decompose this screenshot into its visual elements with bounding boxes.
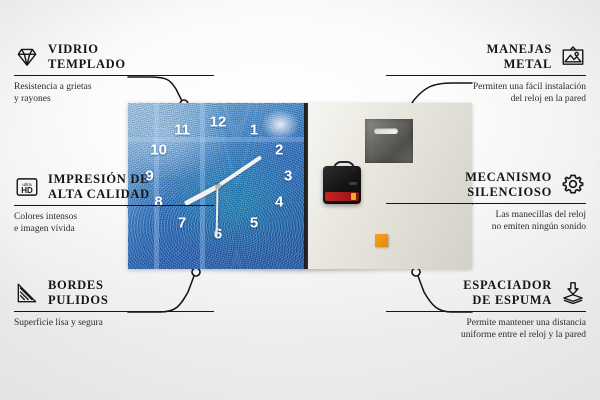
feature-mecanismo-silencioso: MECANISMO SILENCIOSO Las manecillas del … [386,170,586,234]
feature-title: VIDRIO TEMPLADO [48,42,126,72]
mechanism-loop [333,161,355,172]
feature-header: MANEJAS METAL [386,42,586,72]
feature-espaciador-espuma: ESPACIADOR DE ESPUMA Permite mantener un… [386,278,586,342]
feature-sub-line1: Colores intensos [14,211,214,223]
feature-title-line2: METAL [487,57,552,72]
feature-sub-line1: Superficie lisa y segura [14,317,214,329]
feature-divider [386,311,586,313]
feature-sub-line1: Resistencia a grietas [14,81,214,93]
feature-title-line2: ALTA CALIDAD [48,187,150,202]
feature-title: BORDES PULIDOS [48,278,108,308]
clock-numeral-5: 5 [250,216,258,231]
clock-numeral-3: 3 [284,169,292,184]
clock-numeral-2: 2 [275,143,283,158]
clock-numeral-4: 4 [275,195,283,210]
feature-title-line2: TEMPLADO [48,57,126,72]
quartz-mechanism [323,166,361,204]
feature-sub-line2: y rayones [14,93,214,105]
feature-title: IMPRESIÓN DE ALTA CALIDAD [48,172,150,202]
battery-terminal [351,193,356,200]
hanger-slot [374,128,398,134]
feature-impresion-alta-calidad: ultra HD IMPRESIÓN DE ALTA CALIDAD Color… [14,172,214,236]
feature-header: VIDRIO TEMPLADO [14,42,214,72]
metal-hanger-plate [365,119,413,163]
feature-title-line1: BORDES [48,278,108,293]
feature-title-line1: ESPACIADOR [463,278,552,293]
feature-manejas-metal: MANEJAS METAL Permiten una fácil instala… [386,42,586,106]
clock-numeral-12: 12 [210,115,227,130]
feature-title-line2: PULIDOS [48,293,108,308]
foam-spacer [375,234,388,247]
feature-title-line1: MECANISMO [465,170,552,185]
clock-center-pin [216,184,221,189]
feature-sub-line2: uniforme entre el reloj y la pared [386,329,586,341]
feature-title-line2: SILENCIOSO [465,185,552,200]
feature-divider [386,203,586,205]
feature-divider [14,75,214,77]
feature-title: MANEJAS METAL [487,42,552,72]
infographic-canvas: 12 1 2 3 4 5 6 7 8 9 10 11 [0,0,600,400]
feature-header: ESPACIADOR DE ESPUMA [386,278,586,308]
feature-header: BORDES PULIDOS [14,278,214,308]
feature-header: MECANISMO SILENCIOSO [386,170,586,200]
gear-icon [560,172,586,198]
feature-title-line2: DE ESPUMA [463,293,552,308]
diamond-icon [14,44,40,70]
ultra-hd-icon: ultra HD [14,174,40,200]
svg-text:HD: HD [21,186,33,195]
feature-header: ultra HD IMPRESIÓN DE ALTA CALIDAD [14,172,214,202]
feature-sub-line1: Permite mantener una distancia [386,317,586,329]
picture-hanger-icon [560,44,586,70]
feature-divider [14,311,214,313]
clock-numeral-10: 10 [150,143,167,158]
feature-title-line1: MANEJAS [487,42,552,57]
feature-title: ESPACIADOR DE ESPUMA [463,278,552,308]
feature-sub-line2: e imagen vívida [14,223,214,235]
feature-sub-line2: del reloj en la pared [386,93,586,105]
feature-bordes-pulidos: BORDES PULIDOS Superficie lisa y segura [14,278,214,329]
polished-edge-icon [14,280,40,306]
clock-numeral-1: 1 [250,123,258,138]
feature-sub-line2: no emiten ningún sonido [386,221,586,233]
feature-divider [386,75,586,77]
clock-numeral-11: 11 [174,123,190,138]
battery-compartment [325,192,359,201]
feature-title-line1: IMPRESIÓN DE [48,172,150,187]
foam-spacer-icon [560,280,586,306]
feature-title-line1: VIDRIO [48,42,126,57]
feature-sub-line1: Permiten una fácil instalación [386,81,586,93]
mechanism-label [349,182,357,185]
feature-title: MECANISMO SILENCIOSO [465,170,552,200]
feature-sub-line1: Las manecillas del reloj [386,209,586,221]
feature-divider [14,205,214,207]
feature-vidrio-templado: VIDRIO TEMPLADO Resistencia a grietas y … [14,42,214,106]
clock-numeral-6: 6 [214,227,222,242]
